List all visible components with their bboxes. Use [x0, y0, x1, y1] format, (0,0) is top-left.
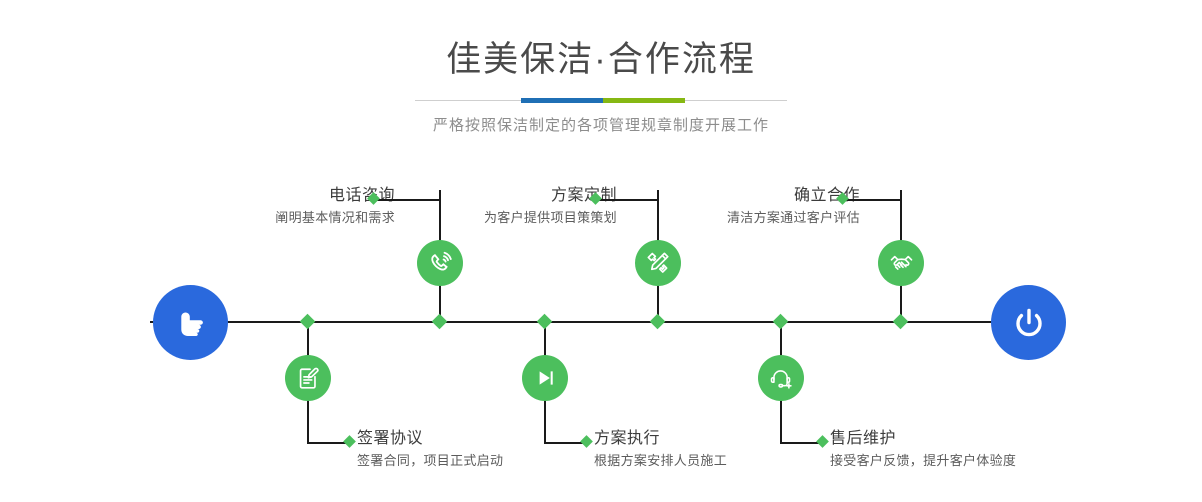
step-desc-6: 接受客户反馈，提升客户体验度 — [830, 449, 1160, 471]
step-label-3: 方案定制 为客户提供项目策策划 — [340, 186, 617, 228]
step-label-6: 售后维护 接受客户反馈，提升客户体验度 — [830, 429, 1160, 471]
cooperation-process-infographic: 佳美保洁·合作流程 严格按照保洁制定的各项管理规章制度开展工作 — [0, 0, 1202, 502]
handshake-icon — [888, 250, 915, 277]
axis-marker-5 — [893, 314, 909, 330]
label-marker-2 — [343, 435, 356, 448]
axis-marker-2 — [300, 314, 316, 330]
pointing-hand-icon — [171, 303, 211, 343]
timeline-start-node[interactable] — [153, 285, 228, 360]
axis-marker-3 — [650, 314, 666, 330]
connector-horizontal-1 — [376, 199, 440, 201]
axis-marker-4 — [537, 314, 553, 330]
timeline: 电话咨询 阐明基本情况和需求 — [0, 0, 1202, 502]
play-skip-icon — [532, 365, 558, 391]
connector-horizontal-3 — [598, 199, 658, 201]
step-desc-5: 清洁方案通过客户评估 — [585, 206, 860, 228]
support-agent-add-icon — [768, 365, 794, 391]
step-title-5: 确立合作 — [585, 186, 860, 206]
step-icon-circle-1[interactable] — [417, 240, 463, 286]
axis-marker-1 — [432, 314, 448, 330]
phone-call-icon — [427, 250, 454, 277]
pencil-ruler-icon — [645, 250, 671, 276]
timeline-axis — [150, 321, 1050, 323]
step-desc-3: 为客户提供项目策策划 — [340, 206, 617, 228]
step-icon-circle-4[interactable] — [522, 355, 568, 401]
timeline-end-node[interactable] — [991, 285, 1066, 360]
step-title-6: 售后维护 — [830, 429, 1160, 449]
connector-horizontal-5 — [845, 199, 901, 201]
step-icon-circle-5[interactable] — [878, 240, 924, 286]
step-label-5: 确立合作 清洁方案通过客户评估 — [585, 186, 860, 228]
power-icon — [1009, 303, 1049, 343]
axis-marker-6 — [773, 314, 789, 330]
step-icon-circle-3[interactable] — [635, 240, 681, 286]
step-icon-circle-2[interactable] — [285, 355, 331, 401]
step-title-3: 方案定制 — [340, 186, 617, 206]
step-icon-circle-6[interactable] — [758, 355, 804, 401]
document-edit-icon — [295, 365, 321, 391]
